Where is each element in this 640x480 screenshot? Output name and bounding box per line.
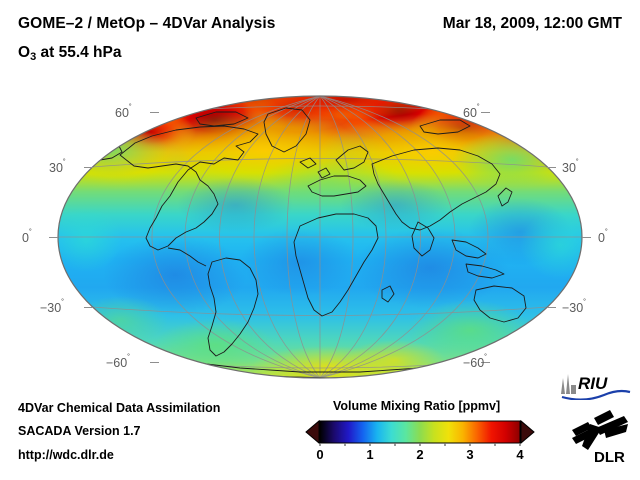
colorbar-tick-label: 1: [366, 447, 373, 462]
credit-line-1: 4DVar Chemical Data Assimilation: [18, 401, 220, 415]
colorbar-cap-low: [306, 421, 319, 443]
credit-line-2: SACADA Version 1.7: [18, 424, 141, 438]
colorbar: [305, 418, 535, 446]
colorbar-tick-label: 2: [416, 447, 423, 462]
lat-label-left-60-value: 60: [115, 106, 129, 120]
lat-label-left-30: 30˚: [49, 159, 66, 175]
lat-label-left-0-value: 0: [22, 231, 29, 245]
colorbar-gradient: [320, 421, 520, 443]
dlr-emblem-icon: [572, 410, 628, 450]
lat-label-right-60-value: 60: [463, 106, 477, 120]
lat-label-left-m30: −30˚: [40, 299, 64, 315]
riu-wordmark: RIU: [578, 374, 608, 393]
lat-tick-right-30: [547, 167, 556, 168]
degree-symbol: ˚: [127, 353, 130, 363]
degree-symbol: ˚: [63, 158, 66, 168]
colorbar-tick-label: 4: [516, 447, 523, 462]
lat-label-right-m30: −30˚: [562, 299, 586, 315]
degree-symbol: ˚: [605, 228, 608, 238]
degree-symbol: ˚: [29, 228, 32, 238]
lat-tick-left-m60: [150, 362, 159, 363]
dlr-logo-svg: DLR: [566, 408, 632, 466]
lat-label-right-60: 60˚: [463, 104, 480, 120]
degree-symbol: ˚: [583, 298, 586, 308]
ozone-field: [50, 80, 600, 390]
figure-root: GOME–2 / MetOp – 4DVar Analysis O3 at 55…: [0, 0, 640, 480]
lat-label-right-30-value: 30: [562, 161, 576, 175]
colorbar-tick-label: 0: [316, 447, 323, 462]
credit-url[interactable]: http://wdc.dlr.de: [18, 448, 114, 462]
lat-label-right-0: 0˚: [598, 229, 608, 245]
lat-tick-left-30: [84, 167, 93, 168]
lat-label-left-30-value: 30: [49, 161, 63, 175]
lat-tick-right-m30: [547, 307, 556, 308]
riu-logo-svg: RIU: [558, 372, 632, 400]
colorbar-tick-labels: 01234: [305, 447, 535, 465]
lat-tick-left-m30: [84, 307, 93, 308]
degree-symbol: ˚: [484, 353, 487, 363]
colorbar-tick-label: 3: [466, 447, 473, 462]
degree-symbol: ˚: [61, 298, 64, 308]
lat-tick-left-60: [150, 112, 159, 113]
lat-label-left-m60: −60˚: [106, 354, 130, 370]
lat-label-right-m30-value: −30: [562, 301, 583, 315]
dlr-logo: DLR: [566, 408, 632, 466]
degree-symbol: ˚: [129, 103, 132, 113]
lat-tick-left-0: [49, 237, 58, 238]
lat-label-left-60: 60˚: [115, 104, 132, 120]
colorbar-svg: [305, 418, 535, 446]
colorbar-cap-high: [521, 421, 534, 443]
lat-label-left-m60-value: −60: [106, 356, 127, 370]
degree-symbol: ˚: [477, 103, 480, 113]
lat-label-right-m60-value: −60: [463, 356, 484, 370]
riu-cathedral-icon: [561, 374, 576, 394]
riu-logo: RIU: [558, 372, 632, 400]
colorbar-title: Volume Mixing Ratio [ppmv]: [333, 399, 500, 413]
lat-label-right-m60: −60˚: [463, 354, 487, 370]
lat-label-right-0-value: 0: [598, 231, 605, 245]
lat-tick-right-0: [582, 237, 591, 238]
lat-label-left-m30-value: −30: [40, 301, 61, 315]
degree-symbol: ˚: [576, 158, 579, 168]
lat-label-right-30: 30˚: [562, 159, 579, 175]
dlr-wordmark: DLR: [594, 449, 625, 466]
lat-label-left-0: 0˚: [22, 229, 32, 245]
lat-tick-right-60: [481, 112, 490, 113]
